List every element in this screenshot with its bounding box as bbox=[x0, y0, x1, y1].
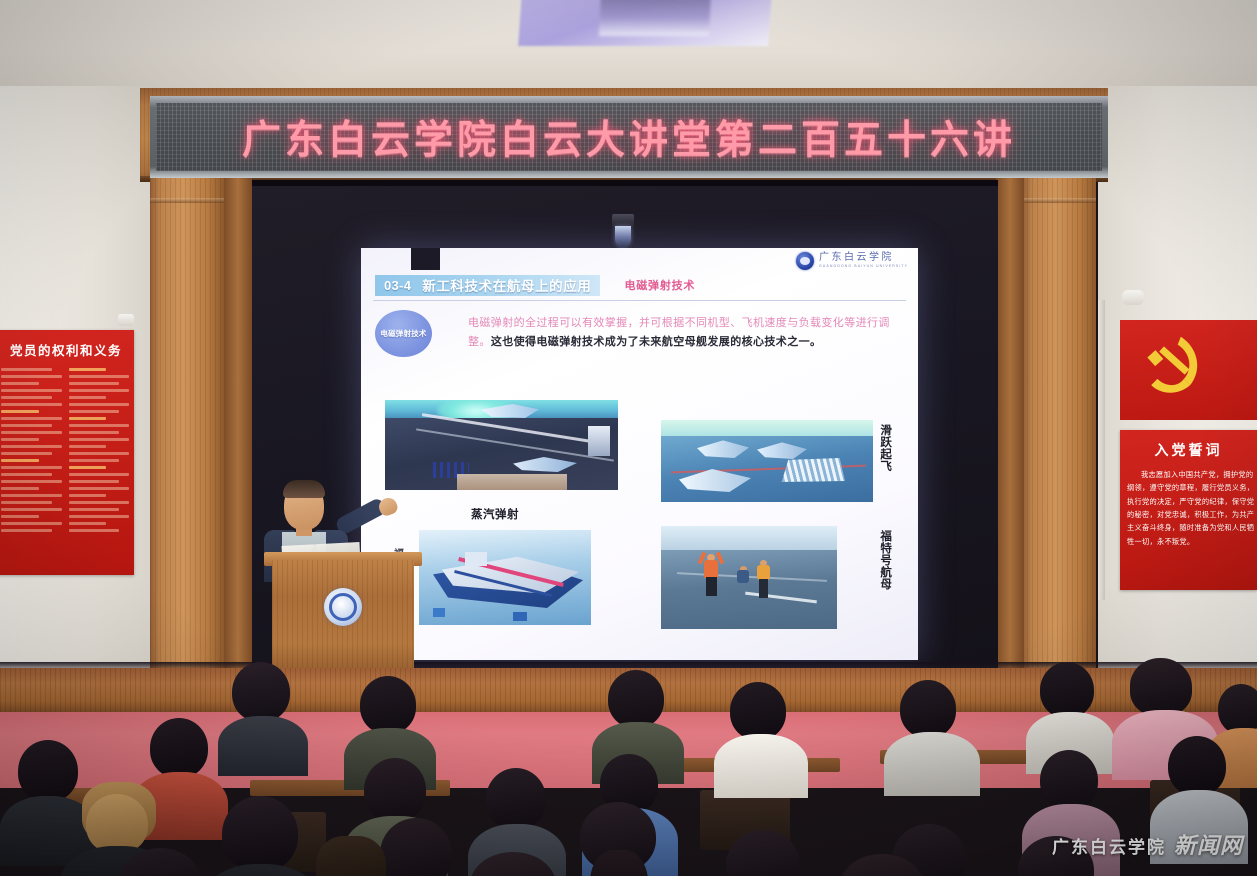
slide-header-chip: 03-4 新工科技术在航母上的应用 bbox=[375, 275, 600, 296]
slide-photo-ford-deck bbox=[661, 526, 837, 629]
slide-photo-steam-catapult-ship bbox=[419, 530, 591, 625]
wall-sign-party-rights: 党员的权利和义务 bbox=[0, 330, 134, 575]
slide-photo-ski-jump bbox=[661, 420, 873, 502]
slide-topic-badge: 电磁弹射技术 bbox=[375, 310, 432, 357]
wood-column-right bbox=[1022, 176, 1096, 676]
projection-bay-edge bbox=[252, 180, 998, 186]
wood-column-left bbox=[150, 176, 224, 676]
slide-university-logo: 广东白云学院 GUANGDONG BAIYUN UNIVERSITY bbox=[796, 252, 908, 270]
slide-header: 03-4 新工科技术在航母上的应用 电磁弹射技术 bbox=[361, 270, 918, 300]
slide-corner-shadow bbox=[411, 248, 440, 270]
led-banner-text: 广东白云学院白云大讲堂第二百五十六讲 bbox=[242, 109, 1016, 165]
caption-ski-jump: 滑跃起飞 bbox=[879, 424, 891, 472]
slide-body-text: 电磁弹射的全过程可以有效掌握，并可根据不同机型、飞机速度与负载变化等进行调整。这… bbox=[468, 314, 900, 353]
caption-steam-catapult: 蒸汽弹射 bbox=[471, 506, 519, 522]
ceiling-camera-icon bbox=[612, 214, 634, 248]
smoke-detector-left-icon bbox=[118, 314, 134, 326]
led-banner-frame: 广东白云学院白云大讲堂第二百五十六讲 bbox=[150, 96, 1108, 178]
lecture-hall-photo: 广东白云学院白云大讲堂第二百五十六讲 广东白云学院 GUANGDONG BAIY… bbox=[0, 0, 1257, 876]
news-watermark: 广东白云学院 新闻网 bbox=[1052, 828, 1243, 860]
wall-sign-right-title: 入党誓词 bbox=[1120, 440, 1257, 460]
slide-photo-em-catapult bbox=[385, 400, 618, 490]
party-emblem-panel bbox=[1120, 320, 1257, 420]
wall-conduit bbox=[1098, 300, 1105, 600]
wood-pilaster-right bbox=[996, 176, 1024, 676]
podium-university-emblem-icon bbox=[324, 588, 362, 626]
slide-body-dark: 这也使得电磁弹射技术成为了未来航空母舰发展的核心技术之一。 bbox=[491, 336, 822, 348]
logo-name-cn: 广东白云学院 bbox=[819, 253, 908, 263]
slide-header-divider bbox=[373, 300, 906, 301]
wall-sign-left-title: 党员的权利和义务 bbox=[4, 340, 128, 359]
smoke-detector-right-icon bbox=[1122, 290, 1144, 305]
wall-sign-right-body: 我志愿加入中国共产党，拥护党的纲领，遵守党的章程，履行党员义务，执行党的决定，严… bbox=[1127, 468, 1255, 548]
led-banner-panel: 广东白云学院白云大讲堂第二百五十六讲 bbox=[156, 103, 1102, 171]
slide-section-title: 新工科技术在航母上的应用 bbox=[422, 275, 591, 295]
caption-ford-carrier: 福特号航母 bbox=[879, 530, 891, 590]
hammer-sickle-icon bbox=[1134, 328, 1212, 408]
logo-name-en: GUANGDONG BAIYUN UNIVERSITY bbox=[819, 265, 908, 269]
projector-light-core bbox=[599, 0, 711, 36]
ceiling bbox=[0, 0, 1257, 92]
wood-pilaster-left bbox=[224, 176, 252, 676]
slide-section-subtitle: 电磁弹射技术 bbox=[624, 277, 695, 293]
slide-topic-badge-label: 电磁弹射技术 bbox=[380, 328, 426, 339]
watermark-org: 广东白云学院 bbox=[1052, 833, 1166, 858]
projected-slide: 广东白云学院 GUANGDONG BAIYUN UNIVERSITY 03-4 … bbox=[361, 248, 918, 660]
university-emblem-icon bbox=[796, 252, 814, 270]
wall-sign-party-oath: 入党誓词 我志愿加入中国共产党，拥护党的纲领，遵守党的章程，履行党员义务，执行党… bbox=[1120, 430, 1257, 590]
watermark-site: 新闻网 bbox=[1174, 828, 1243, 860]
slide-section-number: 03-4 bbox=[384, 278, 411, 293]
